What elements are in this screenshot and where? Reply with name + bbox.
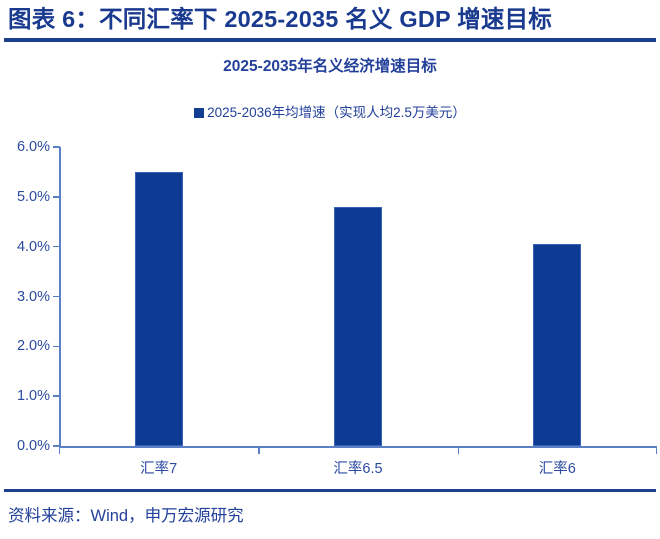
chart-plot-area: 0.0%1.0%2.0%3.0%4.0%5.0%6.0% 汇率7汇率6.5汇率6 — [0, 133, 660, 483]
x-axis-tick — [258, 446, 259, 454]
figure-title-block: 图表 6：不同汇率下 2025-2035 名义 GDP 增速目标 — [0, 0, 660, 46]
y-axis-tick-label: 0.0% — [17, 438, 50, 454]
chart-subtitle: 2025-2035年名义经济增速目标 — [0, 56, 660, 78]
x-axis-tick-label: 汇率7 — [140, 457, 177, 478]
bar[interactable] — [135, 172, 183, 446]
chart-legend: 2025-2036年均增速（实现人均2.5万美元） — [0, 104, 660, 122]
y-axis-tick-label: 2.0% — [17, 338, 50, 354]
x-axis-labels: 汇率7汇率6.5汇率6 — [59, 457, 657, 483]
x-axis-tick — [458, 446, 459, 454]
bar-series — [59, 133, 657, 447]
source-note: 资料来源：Wind，申万宏源研究 — [8, 503, 244, 529]
bar[interactable] — [533, 244, 581, 446]
x-axis-tick-label: 汇率6 — [539, 457, 576, 478]
x-axis-tick-label: 汇率6.5 — [333, 457, 382, 478]
y-axis-tick-label: 5.0% — [17, 189, 50, 205]
bar[interactable] — [334, 207, 382, 446]
page-title: 图表 6：不同汇率下 2025-2035 名义 GDP 增速目标 — [8, 2, 552, 36]
y-axis: 0.0%1.0%2.0%3.0%4.0%5.0%6.0% — [0, 133, 58, 453]
y-axis-tick-label: 1.0% — [17, 388, 50, 404]
y-axis-tick-label: 6.0% — [17, 139, 50, 155]
figure-container: 图表 6：不同汇率下 2025-2035 名义 GDP 增速目标 2025-20… — [0, 0, 660, 539]
legend-swatch-icon — [194, 108, 204, 118]
x-axis-tick — [656, 446, 657, 454]
y-axis-tick-label: 3.0% — [17, 289, 50, 305]
legend-item-label: 2025-2036年均增速（实现人均2.5万美元） — [207, 104, 466, 122]
footer-divider — [4, 489, 656, 492]
title-divider — [4, 38, 656, 42]
y-axis-tick-label: 4.0% — [17, 239, 50, 255]
x-axis-tick — [59, 446, 60, 454]
